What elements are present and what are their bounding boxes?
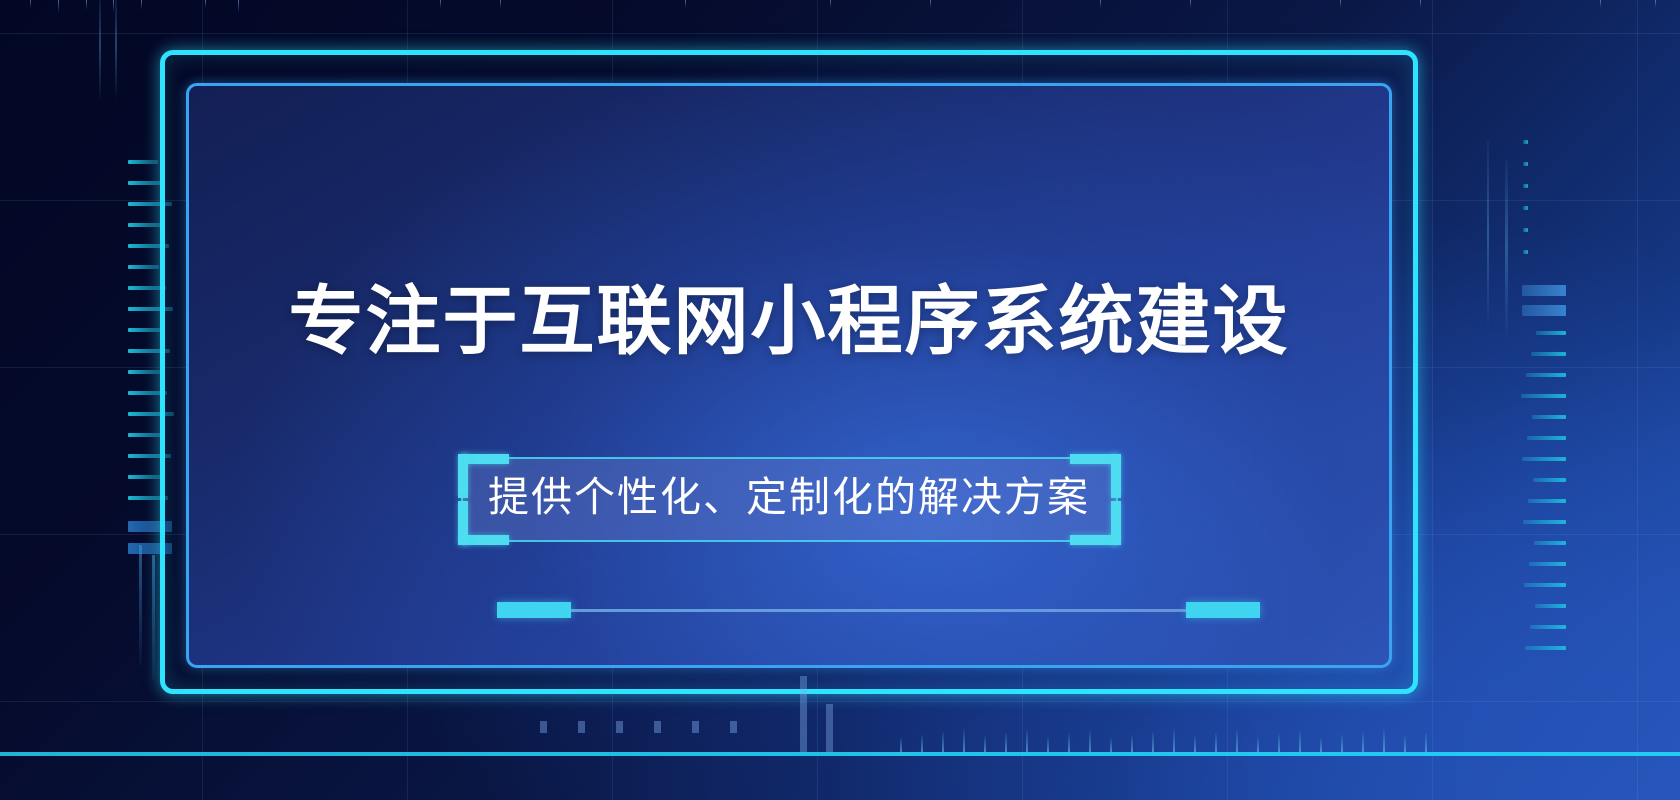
page-subtitle: 提供个性化、定制化的解决方案 <box>488 475 1090 520</box>
bracket-top-left-h <box>461 454 509 464</box>
left-accent-line <box>152 555 155 680</box>
bottom-bars <box>800 672 860 752</box>
left-ladder-decor <box>128 160 174 540</box>
bracket-top-right-v <box>1111 454 1121 498</box>
bracket-bottom-left-h <box>461 535 509 545</box>
bracket-bottom-right-v <box>1111 501 1121 545</box>
vertical-streak <box>115 0 117 98</box>
bottom-cyan-rule <box>0 752 1680 756</box>
left-accent-line <box>139 545 142 665</box>
vertical-streak <box>1487 140 1489 325</box>
page-title: 专注于互联网小程序系统建设 <box>288 284 1289 359</box>
vertical-streak <box>99 0 101 100</box>
vertical-streak <box>1505 160 1508 335</box>
top-tick-marks <box>0 0 1680 22</box>
subtitle-box: 提供个性化、定制化的解决方案 <box>461 457 1118 542</box>
right-ladder-decor <box>1520 285 1566 645</box>
bottom-comb-ticks <box>900 728 1460 752</box>
bottom-square-dots <box>540 721 800 735</box>
bracket-bottom-left-v <box>458 501 468 545</box>
right-ladder-decor-top <box>1520 140 1550 270</box>
bracket-top-left-v <box>458 454 468 498</box>
banner-stage: 专注于互联网小程序系统建设 提供个性化、定制化的解决方案 <box>0 0 1680 800</box>
banner-content: 专注于互联网小程序系统建设 提供个性化、定制化的解决方案 <box>186 83 1392 668</box>
